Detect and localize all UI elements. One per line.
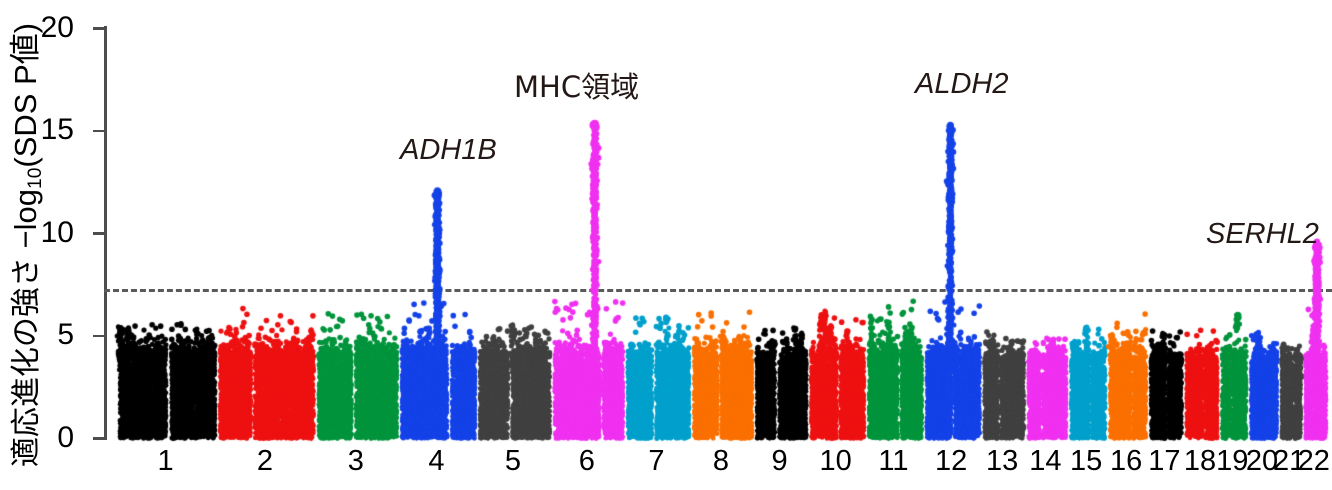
y-axis-tick-20: [93, 27, 104, 30]
x-axis-tick-label-chr8: 8: [713, 446, 729, 478]
x-axis-tick-label-chr15: 15: [1070, 446, 1102, 478]
x-axis-tick-label-chr2: 2: [257, 446, 273, 478]
x-axis-tick-label-chr16: 16: [1110, 446, 1142, 478]
gene-annotation-ADH1B: ADH1B: [400, 136, 497, 165]
x-axis-tick-label-chr3: 3: [348, 446, 364, 478]
x-axis-tick-label-chr5: 5: [505, 446, 521, 478]
x-axis-tick-label-chr10: 10: [820, 446, 852, 478]
x-axis-tick-label-chr7: 7: [648, 446, 664, 478]
y-axis-tick-label-5: 5: [14, 320, 74, 350]
y-axis-tick-5: [93, 335, 104, 338]
x-axis-tick-label-chr11: 11: [878, 446, 908, 478]
x-axis-tick-label-chr22: 22: [1298, 446, 1330, 478]
plot-area: ADH1BMHC領域ALDH2SERHL2 123456789101112131…: [104, 0, 1332, 490]
x-axis-tick-label-chr6: 6: [579, 446, 595, 478]
x-axis-tick-label-chr4: 4: [428, 446, 444, 478]
y-axis-tick-label-0: 0: [14, 423, 74, 453]
x-axis-tick-label-chr12: 12: [935, 446, 967, 478]
manhattan-scatter-canvas: [106, 0, 1332, 490]
y-axis-tick-0: [93, 437, 104, 440]
x-axis-tick-label-chr18: 18: [1184, 446, 1216, 478]
x-axis-tick-label-chr14: 14: [1029, 446, 1061, 478]
gene-annotation-MHC: MHC領域: [514, 73, 639, 102]
x-axis-tick-label-chr17: 17: [1148, 446, 1180, 478]
x-axis-tick-label-chr1: 1: [157, 446, 173, 478]
gene-annotation-SERHL2: SERHL2: [1206, 220, 1319, 249]
gene-annotation-ALDH2: ALDH2: [915, 70, 1009, 99]
y-axis-tick-label-15: 15: [14, 115, 74, 145]
scatter-points-layer: [106, 0, 1332, 490]
x-axis-tick-label-chr9: 9: [772, 446, 788, 478]
y-axis-tick-label-20: 20: [14, 13, 74, 43]
y-axis-tick-15: [93, 130, 104, 133]
y-axis-tick-labels: 05101520: [0, 0, 104, 490]
x-axis-tick-label-chr13: 13: [986, 446, 1018, 478]
x-axis-tick-labels: 12345678910111213141516171819202122: [104, 446, 1332, 490]
x-axis-tick-label-chr19: 19: [1216, 446, 1248, 478]
y-axis-tick-10: [93, 232, 104, 235]
manhattan-plot-figure: 適応進化の強さ −log10(SDS P値) 05101520 ADH1BMHC…: [0, 0, 1332, 490]
y-axis-tick-label-10: 10: [14, 218, 74, 248]
